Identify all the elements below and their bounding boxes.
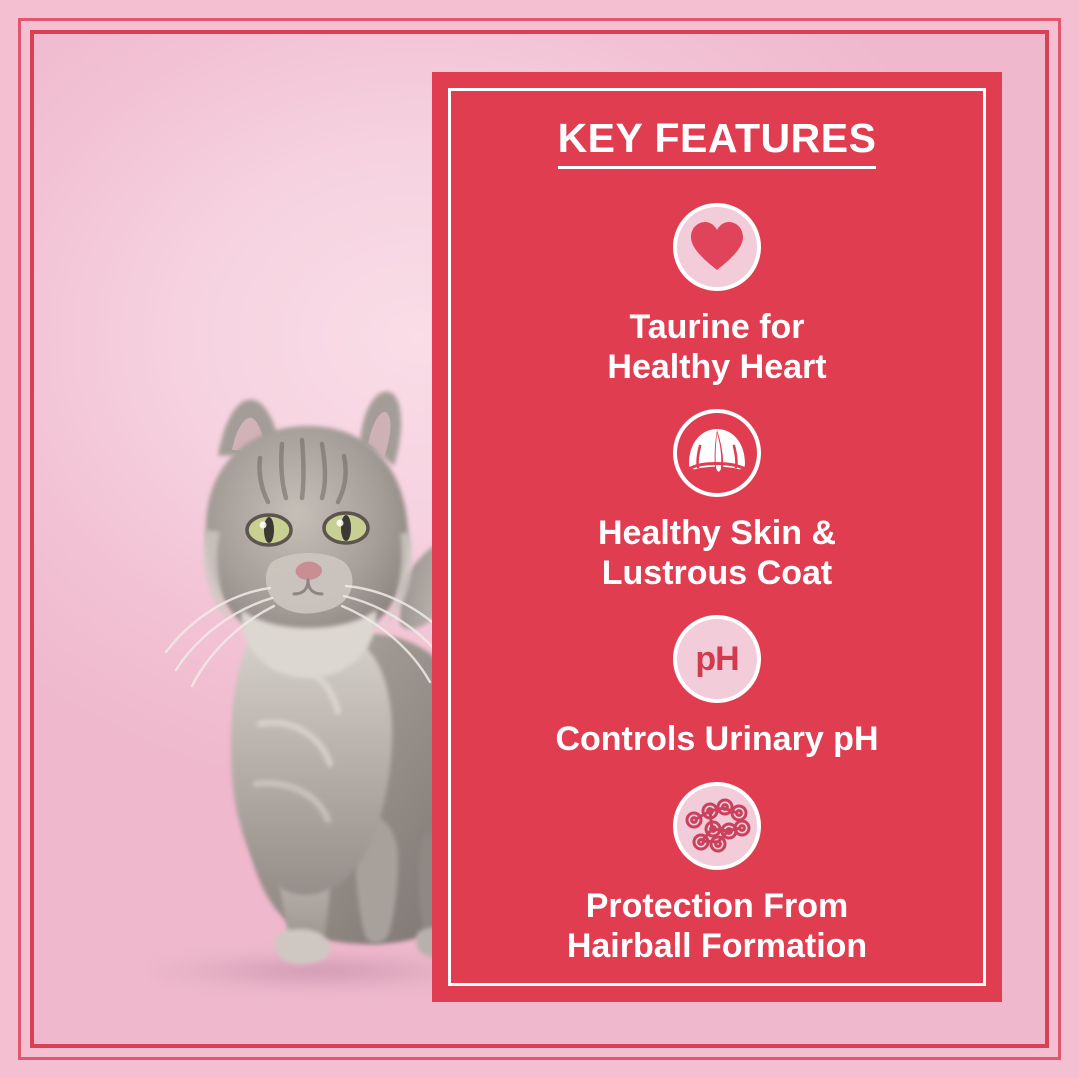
- ph-icon: pH: [673, 615, 761, 703]
- panel-title: KEY FEATURES: [558, 118, 877, 169]
- hairball-icon: [673, 782, 761, 870]
- heart-icon: [673, 203, 761, 291]
- feature-label-skin-coat: Healthy Skin & Lustrous Coat: [598, 513, 836, 593]
- poster-canvas: KEY FEATURES Taurine for Healthy Heart: [0, 0, 1079, 1078]
- feature-item-hairball: Protection From Hairball Formation: [466, 782, 968, 966]
- feature-label-taurine: Taurine for Healthy Heart: [607, 307, 826, 387]
- feature-label-hairball: Protection From Hairball Formation: [567, 886, 867, 966]
- skin-coat-icon: [673, 409, 761, 497]
- feature-item-skin-coat: Healthy Skin & Lustrous Coat: [466, 409, 968, 593]
- feature-item-urinary-ph: pH Controls Urinary pH: [466, 615, 968, 759]
- feature-item-taurine: Taurine for Healthy Heart: [466, 203, 968, 387]
- ph-icon-text: pH: [695, 642, 738, 676]
- cat-head: [166, 392, 456, 686]
- key-features-panel: KEY FEATURES Taurine for Healthy Heart: [432, 72, 1002, 1002]
- feature-label-urinary-ph: Controls Urinary pH: [555, 719, 878, 759]
